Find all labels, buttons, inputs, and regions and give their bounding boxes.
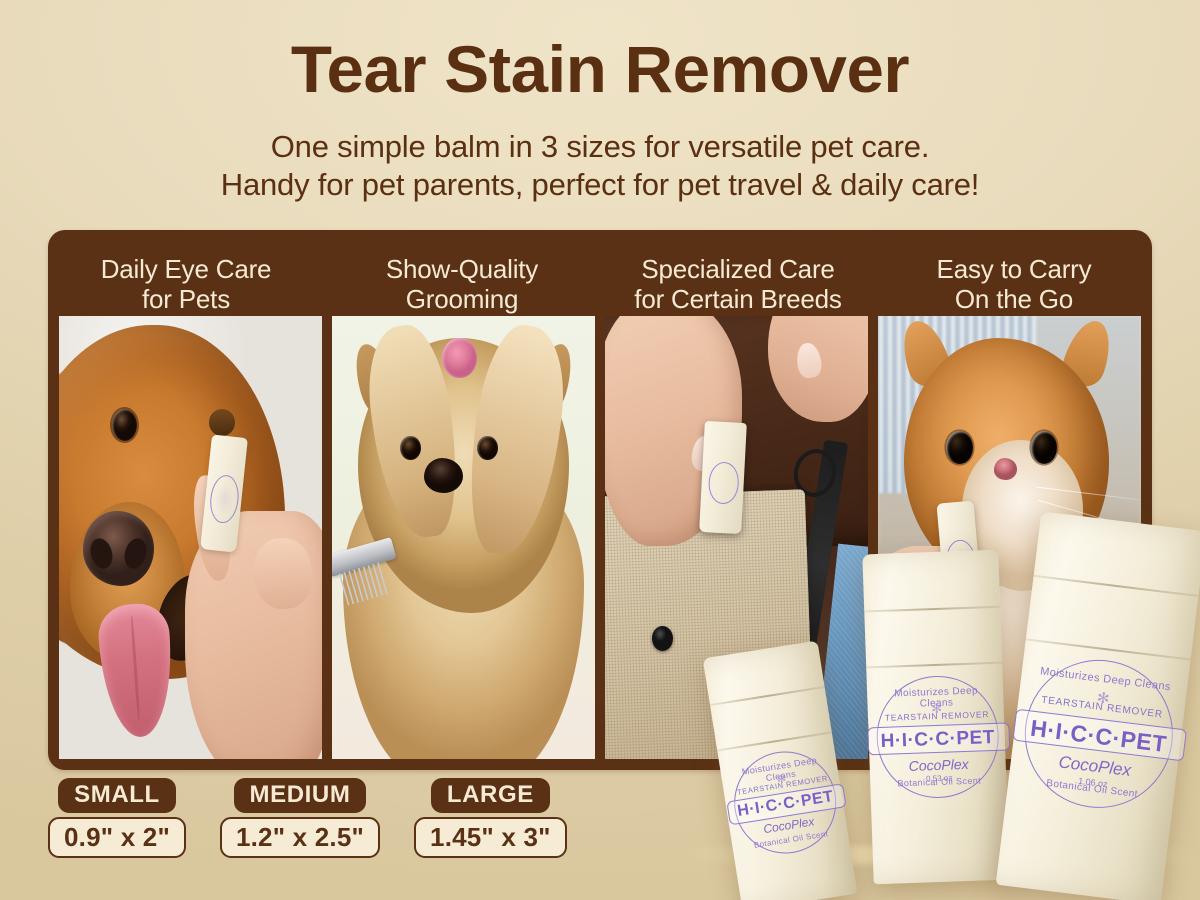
panel-headings-row: Daily Eye Care for Pets Show-Quality Gro… [48, 238, 1152, 312]
page-title: Tear Stain Remover [0, 36, 1200, 102]
panel-3-heading-line1: Specialized Care [641, 254, 834, 284]
size-badges: SMALL 0.9" x 2" MEDIUM 1.2" x 2.5" LARGE… [48, 778, 567, 858]
subtitle-line-2: Handy for pet parents, perfect for pet t… [0, 166, 1200, 204]
balm-label-seal-icon [708, 461, 741, 504]
subtitle-line-1: One simple balm in 3 sizes for versatile… [0, 128, 1200, 166]
panel-2-heading-line1: Show-Quality [386, 254, 538, 284]
panel-heading-4: Easy to Carry On the Go [876, 238, 1152, 312]
panel-heading-1: Daily Eye Care for Pets [48, 238, 324, 312]
panel-3-heading-line2: for Certain Breeds [634, 284, 841, 314]
size-name-medium: MEDIUM [234, 778, 367, 813]
photo-show-quality-grooming [332, 316, 595, 759]
size-name-large: LARGE [431, 778, 550, 813]
size-dimensions-large: 1.45" x 3" [414, 817, 567, 858]
yorkie-eye-right [477, 436, 498, 461]
panel-4-heading-line2: On the Go [955, 284, 1073, 314]
size-badge-medium[interactable]: MEDIUM 1.2" x 2.5" [220, 778, 380, 858]
size-dimensions-medium: 1.2" x 2.5" [220, 817, 380, 858]
photo-daily-eye-care [59, 316, 322, 759]
label-brand-name: H·I·C·C·PET [877, 727, 998, 753]
size-name-small: SMALL [58, 778, 176, 813]
dog-eye-left [112, 409, 137, 441]
panel-heading-2: Show-Quality Grooming [324, 238, 600, 312]
product-tube-medium: Moisturizes Deep Cleans ✻ TEARSTAIN REMO… [862, 550, 1009, 885]
cat-nose [994, 458, 1018, 480]
balm-stick-into-bag [699, 421, 747, 534]
infographic-canvas: Tear Stain Remover One simple balm in 3 … [0, 0, 1200, 900]
size-badge-large[interactable]: LARGE 1.45" x 3" [414, 778, 567, 858]
panel-2-heading-line2: Grooming [406, 284, 519, 314]
panel-4-heading-line1: Easy to Carry [937, 254, 1092, 284]
balm-label-seal-icon [208, 474, 240, 525]
size-dimensions-small: 0.9" x 2" [48, 817, 186, 858]
size-badge-small[interactable]: SMALL 0.9" x 2" [48, 778, 186, 858]
cat-eye-right [1031, 431, 1057, 464]
panel-1-heading-line1: Daily Eye Care [101, 254, 272, 284]
label-product-type: TEARSTAIN REMOVER [877, 709, 997, 723]
panel-heading-3: Specialized Care for Certain Breeds [600, 238, 876, 312]
yorkie-pink-topknot [442, 338, 476, 378]
cat-eye-left [946, 431, 972, 464]
dog-eye-right [209, 409, 235, 436]
tube-label-medium: Moisturizes Deep Cleans ✻ TEARSTAIN REMO… [875, 674, 1001, 800]
panel-1-heading-line2: for Pets [142, 284, 230, 314]
